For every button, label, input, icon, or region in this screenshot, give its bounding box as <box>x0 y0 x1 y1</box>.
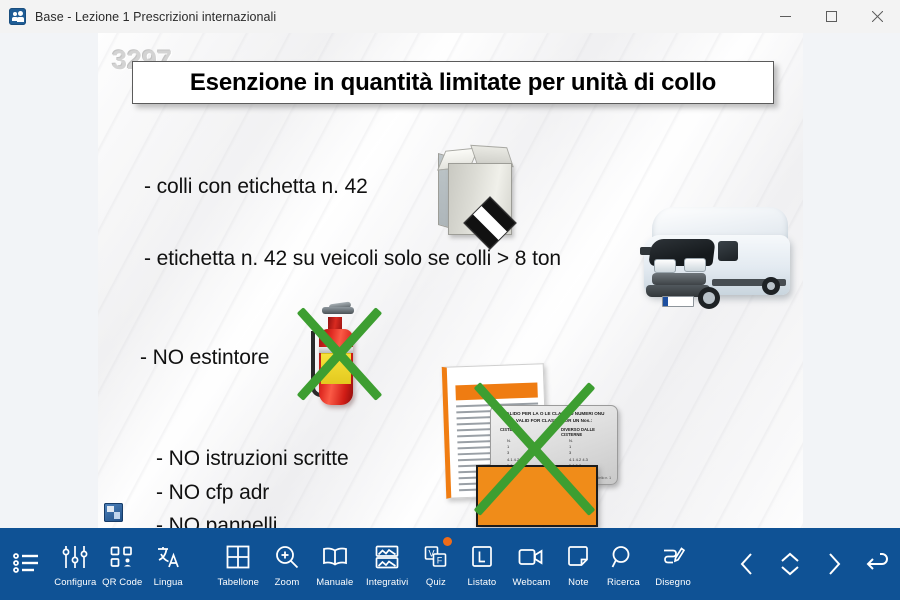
fire-extinguisher-image <box>303 301 373 411</box>
bullet-no-cfp-adr: - NO cfp adr <box>156 481 269 505</box>
toolbar-item-ricerca[interactable]: Ricerca <box>600 528 648 600</box>
orange-hazard-panel <box>476 465 598 527</box>
adr-card-col1-header: CISTERNE <box>500 427 521 432</box>
toolbar-label-zoom: Zoom <box>275 577 300 588</box>
toolbar-label-manuale: Manuale <box>316 577 353 588</box>
workspace: 3297 Esenzione in quantità limitate per … <box>0 33 900 528</box>
toolbar-item-quiz[interactable]: V F Quiz <box>414 528 458 600</box>
slide-canvas[interactable]: 3297 Esenzione in quantità limitate per … <box>98 33 803 528</box>
toolbar-item-menu-list[interactable] <box>0 528 51 600</box>
toolbar-item-manuale[interactable]: Manuale <box>309 528 360 600</box>
toolbar-gap-1 <box>191 528 211 600</box>
nav-next-button[interactable] <box>812 528 856 600</box>
minimize-icon[interactable] <box>762 0 808 33</box>
quiz-badge-dot <box>443 537 452 546</box>
bullet-colli-etichetta: - colli con etichetta n. 42 <box>144 175 368 199</box>
toolbar-label-ricerca: Ricerca <box>607 577 640 588</box>
letter-l-box-icon <box>470 540 494 574</box>
bullet-no-istruzioni: - NO istruzioni scritte <box>156 447 349 471</box>
toolbar-item-disegno[interactable]: Disegno <box>647 528 698 600</box>
maximize-icon[interactable] <box>808 0 854 33</box>
bullet-no-pannelli: - NO pannelli <box>156 514 277 528</box>
magnifier-plus-icon <box>275 540 299 574</box>
bullet-list-icon <box>13 546 39 580</box>
slide-title-box: Esenzione in quantità limitate per unità… <box>132 61 774 104</box>
slide-app-icon <box>104 503 123 522</box>
toolbar-item-integrativi[interactable]: Integrativi <box>361 528 414 600</box>
documents-group-image: VALIDO PER LA O LE CLASSI O NUMERI ONU V… <box>438 363 638 528</box>
note-page-icon <box>567 540 589 574</box>
toolbar-label-integrativi: Integrativi <box>366 577 408 588</box>
bullet-etichetta-veicoli: - etichetta n. 42 su veicoli solo se col… <box>144 247 561 271</box>
adr-card-col2-header: DIVERSO DALLE CISTERNE <box>561 427 617 437</box>
toolbar-item-qr-code[interactable]: QR Code <box>99 528 145 600</box>
chevron-right-icon <box>824 550 844 578</box>
svg-text:F: F <box>437 556 443 566</box>
grid-icon <box>226 540 250 574</box>
sliders-icon <box>62 540 88 574</box>
limited-quantity-box-image <box>438 141 528 236</box>
window-controls <box>762 0 900 33</box>
close-icon[interactable] <box>854 0 900 33</box>
pencil-draw-icon <box>661 540 685 574</box>
toolbar-label-listato: Listato <box>468 577 497 588</box>
return-arrow-icon <box>864 550 892 578</box>
toolbar-item-listato[interactable]: Listato <box>458 528 506 600</box>
toolbar-item-tabellone[interactable]: Tabellone <box>212 528 265 600</box>
nav-updown-button[interactable] <box>769 528 813 600</box>
toolbar-label-configura: Configura <box>54 577 96 588</box>
toolbar-label-disegno: Disegno <box>655 577 691 588</box>
chevron-up-down-icon <box>778 550 802 578</box>
application-window: Base - Lezione 1 Prescrizioni internazio… <box>0 0 900 600</box>
white-van-image <box>638 201 798 316</box>
adr-card-title-it: VALIDO PER LA O LE CLASSI O NUMERI ONU <box>504 411 605 416</box>
toolbar-item-zoom[interactable]: Zoom <box>265 528 309 600</box>
chevron-left-icon <box>737 550 757 578</box>
toolbar-item-configura[interactable]: Configura <box>51 528 99 600</box>
nav-prev-button[interactable] <box>725 528 769 600</box>
toolbar-label-tabellone: Tabellone <box>217 577 259 588</box>
bottom-toolbar: Configura QR Code <box>0 528 900 600</box>
nav-back-button[interactable] <box>856 528 900 600</box>
title-bar: Base - Lezione 1 Prescrizioni internazio… <box>0 0 900 34</box>
toolbar-item-lingua[interactable]: Lingua <box>145 528 191 600</box>
people-icon <box>9 8 26 25</box>
adr-card-title-en: VALID FOR CLASSES OR UN Nos.: <box>516 418 592 423</box>
window-title: Base - Lezione 1 Prescrizioni internazio… <box>35 10 276 24</box>
bullet-no-estintore: - NO estintore <box>140 346 269 370</box>
limited-quantity-diamond-label <box>463 196 517 250</box>
toolbar-item-webcam[interactable]: Webcam <box>506 528 557 600</box>
magnifier-icon <box>611 540 635 574</box>
page-title: Esenzione in quantità limitate per unità… <box>190 69 716 97</box>
translate-icon <box>155 540 181 574</box>
toolbar-label-qr-code: QR Code <box>102 577 142 588</box>
video-camera-icon <box>518 540 544 574</box>
toolbar-item-note[interactable]: Note <box>557 528 599 600</box>
qr-code-icon <box>110 540 134 574</box>
toolbar-label-note: Note <box>568 577 588 588</box>
images-icon <box>375 540 399 574</box>
toolbar-label-webcam: Webcam <box>513 577 551 588</box>
book-icon <box>322 540 348 574</box>
toolbar-label-quiz: Quiz <box>426 577 446 588</box>
toolbar-label-lingua: Lingua <box>154 577 183 588</box>
